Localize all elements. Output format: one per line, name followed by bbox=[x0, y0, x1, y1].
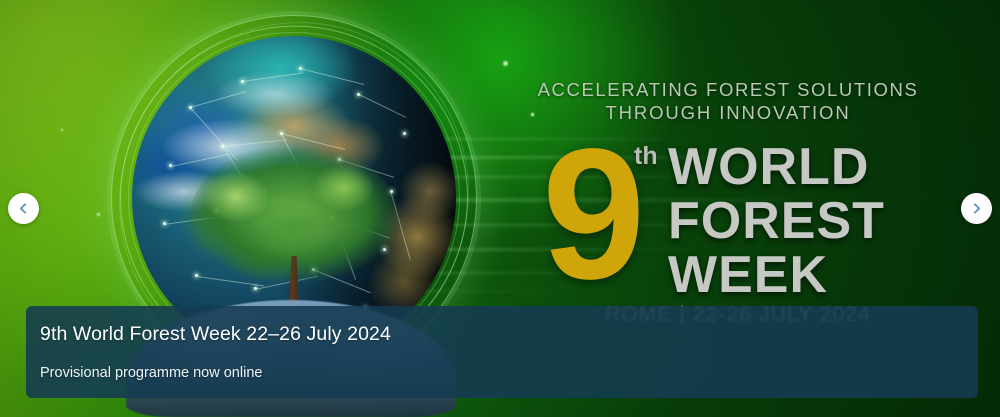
caption-subtitle: Provisional programme now online bbox=[40, 364, 978, 382]
chevron-right-icon bbox=[970, 202, 983, 215]
carousel-prev-button[interactable] bbox=[8, 193, 39, 224]
hero-carousel: ACCELERATING FOREST SOLUTIONS THROUGH IN… bbox=[0, 0, 1000, 417]
chevron-left-icon bbox=[17, 202, 30, 215]
wordmark-line-week: WEEK bbox=[668, 248, 885, 302]
sparkle-icon bbox=[60, 128, 64, 132]
wordmark-line-world: WORLD bbox=[668, 140, 885, 194]
wordmark: 9 th WORLD FOREST WEEK bbox=[528, 136, 928, 314]
wordmark-lines: WORLD FOREST WEEK bbox=[668, 140, 885, 302]
slide-caption-panel[interactable]: 9th World Forest Week 22–26 July 2024 Pr… bbox=[26, 306, 978, 398]
caption-title: 9th World Forest Week 22–26 July 2024 bbox=[40, 322, 978, 346]
event-logo-lockup: ACCELERATING FOREST SOLUTIONS THROUGH IN… bbox=[528, 78, 928, 314]
carousel-next-button[interactable] bbox=[961, 193, 992, 224]
sparkle-icon bbox=[502, 60, 509, 67]
edition-ordinal-suffix: th bbox=[634, 142, 658, 171]
sparkle-icon bbox=[96, 212, 101, 217]
wordmark-line-forest: FOREST bbox=[668, 194, 885, 248]
edition-number: 9 bbox=[542, 122, 645, 308]
tagline-line-1: ACCELERATING FOREST SOLUTIONS bbox=[528, 78, 928, 101]
